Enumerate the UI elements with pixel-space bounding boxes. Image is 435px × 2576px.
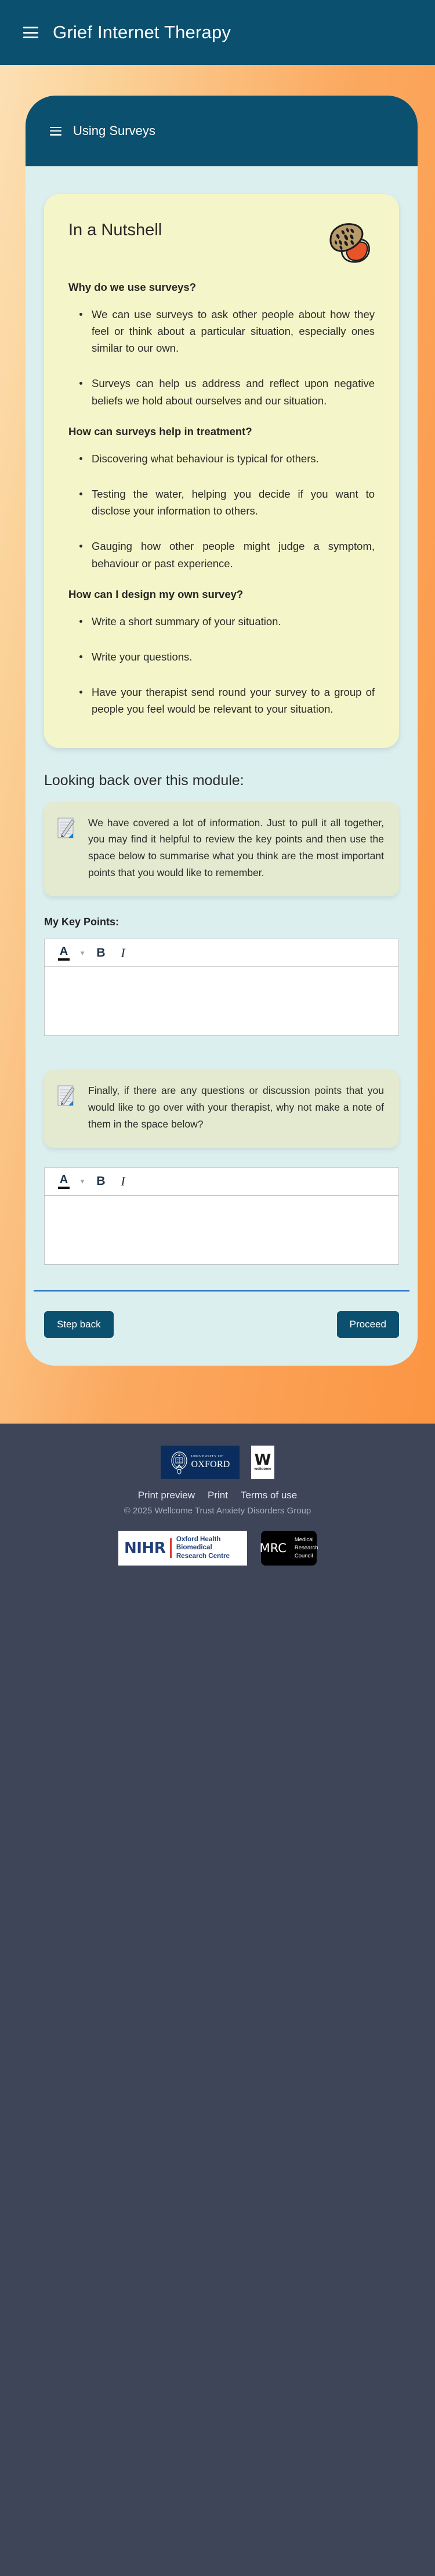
key-points-editor[interactable]: A ▾ B I: [44, 939, 399, 1036]
nihr-divider: [170, 1538, 172, 1558]
nutshell-bullet-list: Write a short summary of your situation.…: [68, 613, 375, 718]
hamburger-line: [50, 127, 61, 129]
key-points-label: My Key Points:: [44, 916, 399, 928]
list-item: Gauging how other people might judge a s…: [68, 538, 375, 571]
list-item: Write a short summary of your situation.: [68, 613, 375, 630]
wellcome-logo: W wellcome: [251, 1446, 274, 1479]
site-footer: UNIVERSITY OF OXFORD W wellcome Print pr…: [0, 1424, 435, 1581]
nihr-line-1: Oxford Health Biomedical: [176, 1535, 247, 1552]
mrc-line-2: Research: [295, 1544, 318, 1552]
hamburger-line: [23, 27, 38, 28]
list-item: Surveys can help us address and reflect …: [68, 375, 375, 408]
nutshell-question: How can surveys help in treatment?: [68, 424, 375, 440]
bold-button[interactable]: B: [91, 942, 111, 964]
italic-button[interactable]: I: [113, 942, 133, 964]
text-color-swatch: [58, 1187, 70, 1189]
italic-button[interactable]: I: [113, 1170, 133, 1192]
nutshell-heading: In a Nutshell: [68, 218, 162, 240]
mrc-line-3: Council: [295, 1552, 318, 1560]
university-of-oxford-logo: UNIVERSITY OF OXFORD: [161, 1446, 240, 1479]
review-section-title: Looking back over this module:: [44, 772, 399, 789]
nutshell-bullet-list: Discovering what behaviour is typical fo…: [68, 450, 375, 572]
nutshell-section: In a Nutshell: [26, 166, 418, 748]
module-header: Using Surveys: [26, 96, 418, 166]
oxford-line-big: OXFORD: [191, 1460, 230, 1469]
list-item: We can use surveys to ask other people a…: [68, 306, 375, 357]
proceed-button[interactable]: Proceed: [337, 1311, 399, 1338]
app-title: Grief Internet Therapy: [53, 22, 231, 43]
hamburger-line: [50, 134, 61, 136]
wellcome-caption: wellcome: [254, 1467, 271, 1471]
nutshell-question: How can I design my own survey?: [68, 587, 375, 603]
list-item: Discovering what behaviour is typical fo…: [68, 450, 375, 467]
editor-toolbar-one: A ▾ B I: [45, 939, 398, 967]
nutshell-question: Why do we use surveys?: [68, 280, 375, 295]
review-section: Looking back over this module:: [26, 748, 418, 1265]
list-item: Testing the water, helping you decide if…: [68, 486, 375, 519]
review-note-one: We have covered a lot of information. Ju…: [44, 802, 399, 897]
list-item: Have your therapist send round your surv…: [68, 684, 375, 717]
text-color-swatch: [58, 958, 70, 961]
discussion-points-editor[interactable]: A ▾ B I: [44, 1167, 399, 1265]
text-color-button[interactable]: A: [54, 942, 74, 964]
module-navigation: Step back Proceed: [26, 1291, 418, 1348]
list-item: Write your questions.: [68, 648, 375, 665]
page-canvas: Using Surveys In a Nutshell: [0, 65, 435, 1424]
cracked-nut-illustration: [324, 215, 375, 266]
nihr-wordmark: Oxford Health Biomedical Research Centre: [176, 1535, 247, 1560]
text-color-button[interactable]: A: [54, 1170, 74, 1192]
terms-of-use-link[interactable]: Terms of use: [241, 1490, 297, 1501]
oxford-wordmark: UNIVERSITY OF OXFORD: [191, 1455, 230, 1469]
hamburger-line: [23, 32, 38, 34]
hamburger-line: [50, 130, 61, 132]
review-note-one-text: We have covered a lot of information. Ju…: [88, 815, 384, 882]
bold-button[interactable]: B: [91, 1170, 111, 1192]
module-body: In a Nutshell: [26, 166, 418, 1366]
discussion-points-input[interactable]: [45, 1196, 398, 1264]
mrc-logo: MRC Medical Research Council: [261, 1531, 317, 1566]
mrc-line-1: Medical: [295, 1536, 318, 1544]
print-preview-link[interactable]: Print preview: [138, 1490, 195, 1501]
editor-toolbar-two: A ▾ B I: [45, 1168, 398, 1196]
module-title: Using Surveys: [73, 123, 155, 138]
step-back-button[interactable]: Step back: [44, 1311, 114, 1338]
review-note-two-text: Finally, if there are any questions or d…: [88, 1082, 384, 1133]
copyright-text: © 2025 Wellcome Trust Anxiety Disorders …: [0, 1506, 435, 1516]
mrc-mark: MRC: [260, 1541, 287, 1555]
footer-logo-row-bottom: NIHR Oxford Health Biomedical Research C…: [0, 1531, 435, 1566]
footer-logo-row-top: UNIVERSITY OF OXFORD W wellcome: [0, 1446, 435, 1479]
app-header: Grief Internet Therapy: [0, 0, 435, 65]
nihr-line-2: Research Centre: [176, 1552, 247, 1560]
hamburger-line: [23, 37, 38, 38]
nihr-logo: NIHR Oxford Health Biomedical Research C…: [118, 1531, 247, 1566]
module-card: Using Surveys In a Nutshell: [26, 96, 418, 1366]
hamburger-menu-icon[interactable]: [50, 127, 61, 136]
footer-links: Print preview Print Terms of use: [0, 1490, 435, 1501]
nihr-mark: NIHR: [124, 1539, 165, 1557]
print-link[interactable]: Print: [208, 1490, 228, 1501]
notepad-pencil-icon: [57, 1085, 77, 1108]
oxford-line-small: UNIVERSITY OF: [191, 1455, 230, 1459]
nutshell-bullet-list: We can use surveys to ask other people a…: [68, 306, 375, 409]
nutshell-panel: In a Nutshell: [44, 194, 399, 748]
mrc-wordmark: Medical Research Council: [295, 1536, 318, 1560]
hamburger-menu-icon[interactable]: [23, 27, 38, 38]
nutshell-header: In a Nutshell: [68, 218, 375, 266]
key-points-input[interactable]: [45, 967, 398, 1035]
chevron-down-icon[interactable]: ▾: [76, 1170, 89, 1192]
text-color-label: A: [60, 946, 68, 957]
wellcome-mark: W: [255, 1454, 271, 1466]
oxford-crest-icon: [171, 1450, 188, 1475]
notepad-pencil-icon: [57, 817, 77, 840]
text-color-label: A: [60, 1174, 68, 1185]
review-note-two: Finally, if there are any questions or d…: [44, 1070, 399, 1148]
chevron-down-icon[interactable]: ▾: [76, 942, 89, 964]
page-root: Grief Internet Therapy Using Surveys In …: [0, 0, 435, 1581]
